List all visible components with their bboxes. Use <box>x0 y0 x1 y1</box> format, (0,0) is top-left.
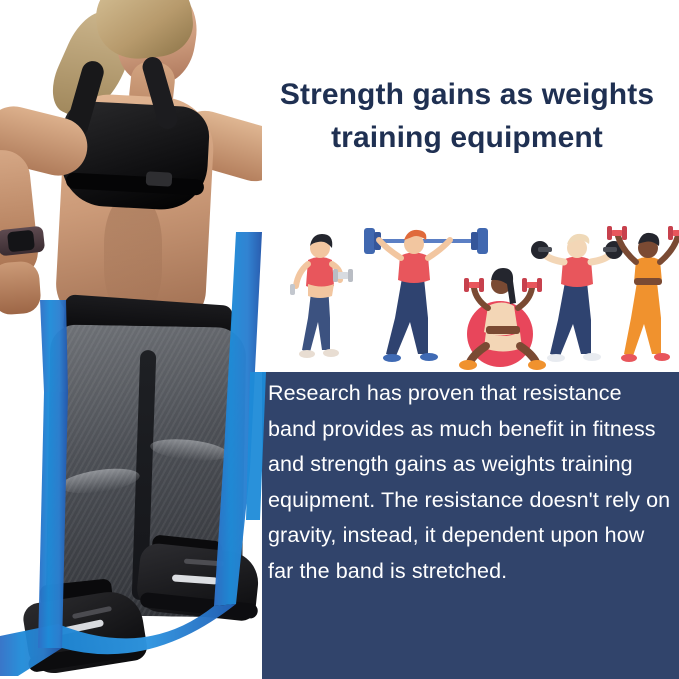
description-text: Research has proven that resistance band… <box>268 376 672 589</box>
figure-woman-on-ball <box>459 268 546 370</box>
page-title: Strength gains as weights training equip… <box>262 74 672 159</box>
figure-woman-with-dumbbell <box>290 234 353 358</box>
model-left-fist <box>0 260 42 315</box>
wrist-watch-face <box>7 230 35 253</box>
model-photo <box>0 0 262 679</box>
product-marketing-image: Strength gains as weights training equip… <box>0 0 679 679</box>
fitness-illustration-row <box>278 222 679 374</box>
figure-man-shoulder-dumbbells <box>531 234 623 362</box>
sports-bra-clip <box>146 171 173 186</box>
